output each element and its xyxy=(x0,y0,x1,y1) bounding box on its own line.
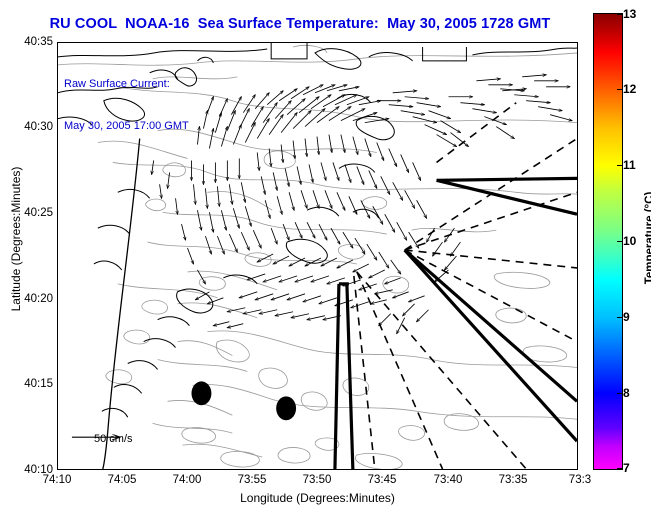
colorbar-tick-label: 12 xyxy=(623,82,636,96)
figure-title: RU COOL NOAA-16 Sea Surface Temperature:… xyxy=(0,16,600,32)
station-markers xyxy=(191,381,296,420)
x-tick-label: 73:35 xyxy=(499,474,528,486)
colorbar-tick-label: 9 xyxy=(623,310,630,324)
colorbar-tick-label: 10 xyxy=(623,234,636,248)
station-marker[interactable] xyxy=(276,396,296,420)
x-axis-ticks: 74:10 74:05 74:00 73:55 73:50 73:45 73:4… xyxy=(0,474,651,492)
map-plot-area[interactable]: Raw Surface Current: May 30, 2005 17:00 … xyxy=(57,42,578,470)
y-tick-label: 40:15 xyxy=(1,378,53,390)
y-axis-ticks: 40:35 40:30 40:25 40:20 40:15 40:10 xyxy=(0,0,53,515)
colorbar-tick-label: 8 xyxy=(623,386,630,400)
coastline-main xyxy=(103,139,140,469)
colorbar-tick-label: 7 xyxy=(623,461,630,475)
x-tick-label: 73:3 xyxy=(569,474,591,486)
x-tick-label: 74:00 xyxy=(173,474,202,486)
surface-current-vectors xyxy=(152,75,572,334)
annotation-line-1: Raw Surface Current: xyxy=(64,77,189,91)
scale-bar-label: 50 cm/s xyxy=(94,433,133,445)
x-tick-label: 73:40 xyxy=(434,474,463,486)
colorbar-title: Temperature (°C) xyxy=(644,158,651,318)
annotation-line-2: May 30, 2005 17:00 GMT xyxy=(64,119,189,133)
x-tick-label: 73:45 xyxy=(368,474,397,486)
figure-canvas: RU COOL NOAA-16 Sea Surface Temperature:… xyxy=(0,0,651,515)
station-marker[interactable] xyxy=(191,381,211,405)
x-tick-label: 73:55 xyxy=(238,474,267,486)
colorbar-tick-label: 13 xyxy=(623,7,636,21)
x-axis-title: Longitude (Degrees:Minutes) xyxy=(57,491,578,505)
y-axis-title: Latitude (Degrees:Minutes) xyxy=(9,129,23,349)
x-tick-label: 73:50 xyxy=(303,474,332,486)
x-tick-label: 74:05 xyxy=(108,474,137,486)
plot-annotation: Raw Surface Current: May 30, 2005 17:00 … xyxy=(64,49,189,161)
y-tick-label: 40:35 xyxy=(1,36,53,48)
x-tick-label: 74:10 xyxy=(43,474,72,486)
colorbar-tick-label: 11 xyxy=(623,158,636,172)
radar-beam-solid-rays xyxy=(335,178,577,469)
